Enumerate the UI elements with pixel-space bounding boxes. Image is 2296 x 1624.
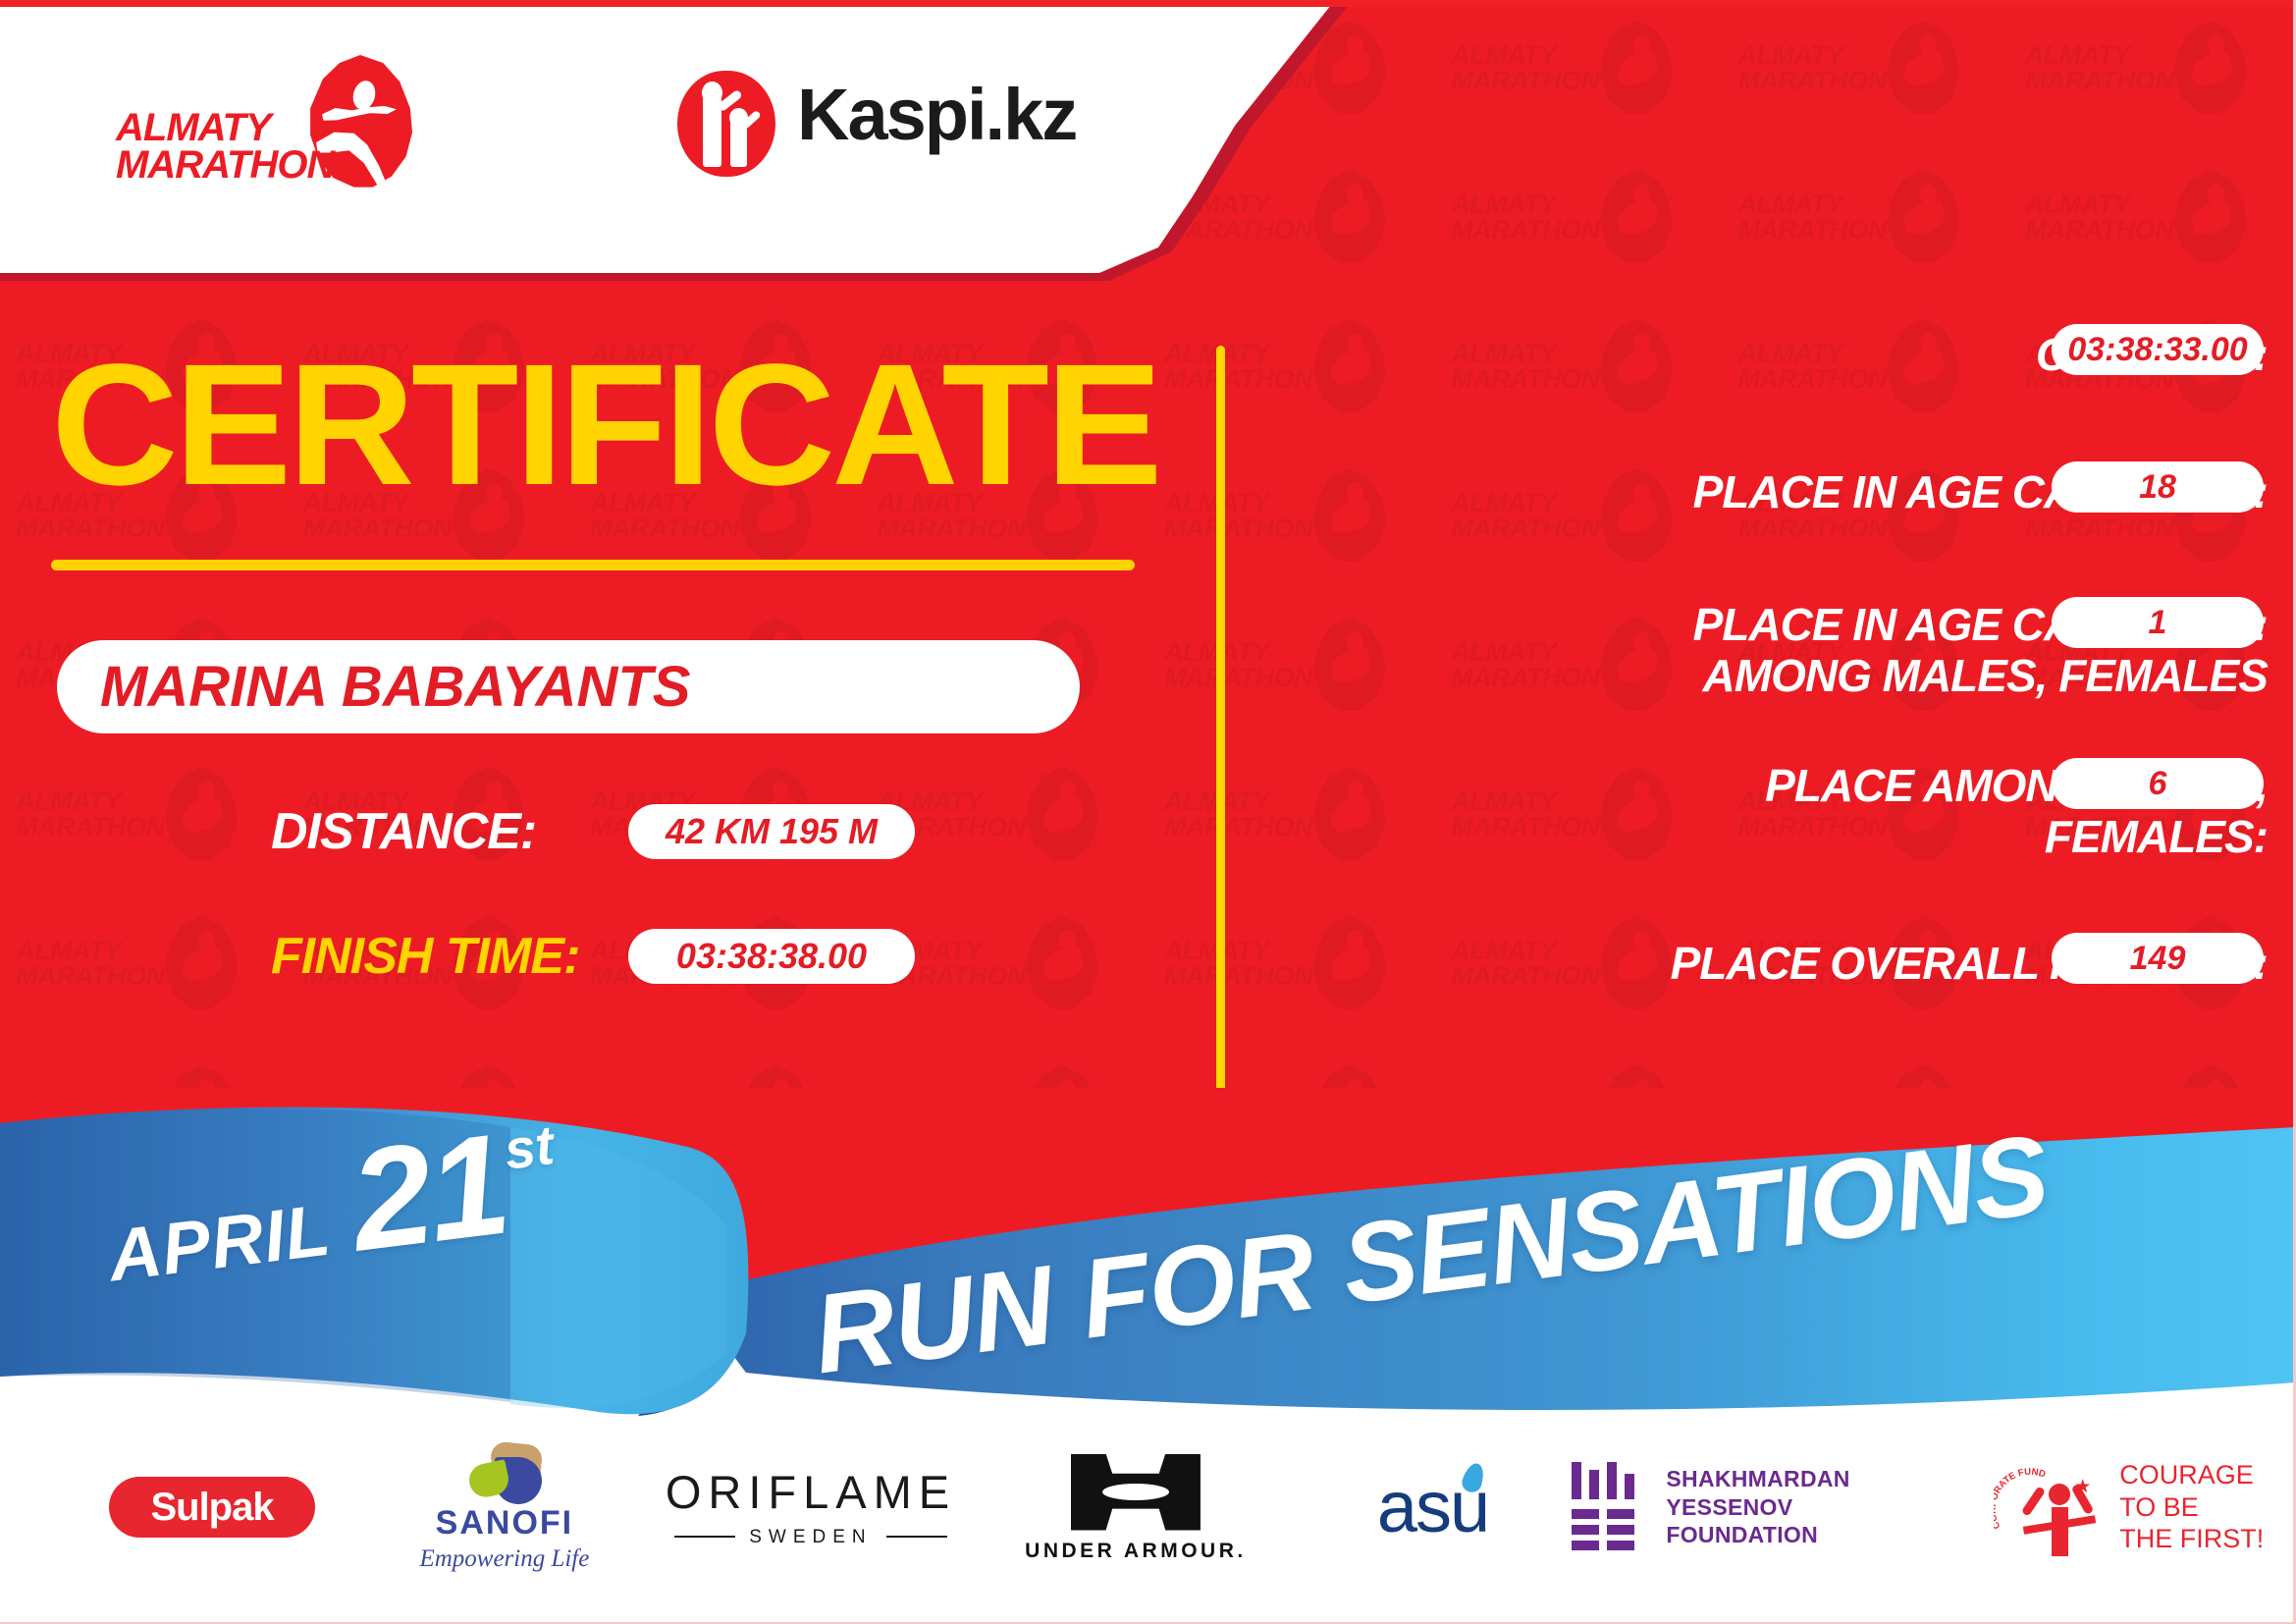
chip-time-value-pill: 03:38:33.00 [2052,324,2264,375]
marathon-line: MARATHON [116,147,332,185]
courage-line-2: TO BE [2119,1491,2264,1523]
foundation-line-1: SHAKHMARDAN YESSENOV [1666,1465,1961,1521]
dash-4 [1607,1525,1634,1535]
place-among-gender-value: 6 [2149,767,2167,800]
sponsor-bar: Sulpak SANOFI Empowering Life ORIFLAME S… [0,1414,2296,1600]
distance-label: DISTANCE: [271,806,536,857]
kaspi-family-icon [677,71,775,177]
watermark-tile: ALMATYMARATHON [1737,166,1993,294]
watermark-droplet-icon [1600,170,1673,264]
runner-arm-shape [322,106,397,126]
kaspi-adult-body [703,86,721,167]
top-red-rule [0,0,2296,7]
place-age-category-value-pill: 18 [2052,461,2264,513]
watermark-droplet-icon [1313,170,1386,264]
header-logos: ALMATY MARATHON Kaspi.kz [0,0,1178,273]
watermark-tile: ALMATYMARATHON [1164,912,1419,1040]
kaspi-logo: Kaspi.kz [677,71,1090,179]
yessenov-foundation-wordmark: SHAKHMARDAN YESSENOV FOUNDATION [1666,1465,1961,1549]
sponsor-sanofi: SANOFI Empowering Life [365,1448,644,1566]
sanofi-logo: SANOFI Empowering Life [419,1443,589,1571]
sponsor-shakhmardan-yessenov-foundation: SHAKHMARDAN YESSENOV FOUNDATION [1572,1448,1961,1566]
courage-line-3: THE FIRST! [2119,1523,2264,1554]
sponsor-asu: asu [1294,1448,1573,1566]
watermark-tile: ALMATYMARATHON [1164,763,1419,891]
watermark-text: ALMATYMARATHON [2025,42,2198,94]
watermark-droplet-icon [1313,916,1386,1010]
dash-6 [1607,1541,1634,1550]
watermark-tile: ALMATYMARATHON [2025,17,2280,144]
finish-time-row: FINISH TIME: 03:38:38.00 [0,925,1158,1003]
oriflame-wordmark: ORIFLAME [666,1469,956,1515]
event-day: 21 [344,1112,513,1273]
label-line-2: AMONG MALES, FEMALES [1522,650,2268,701]
certificate-root: ALMATYMARATHONALMATYMARATHONALMATYMARATH… [0,0,2296,1624]
courage-wordmark: COURAGE TO BE THE FIRST! [2119,1459,2264,1554]
watermark-tile: ALMATYMARATHON [1451,17,1706,144]
watermark-text: ALMATYMARATHON [1451,42,1624,94]
page-title: CERTIFICATE [51,352,1159,500]
watermark-tile: ALMATYMARATHON [1164,315,1419,443]
distance-value: 42 KM 195 M [666,814,878,849]
watermark-text: ALMATYMARATHON [1451,191,1624,244]
watermark-tile: ALMATYMARATHON [1451,166,1706,294]
bar-1 [1572,1462,1581,1499]
title-underline [51,560,1135,570]
vertical-yellow-divider [1216,346,1225,1095]
courage-torso [2052,1507,2068,1556]
watermark-droplet-icon [1313,618,1386,712]
ua-slot-shape [1102,1484,1169,1500]
place-overall-value: 149 [2130,942,2186,975]
courage-runner-figure: ★ [2031,1478,2088,1558]
sponsor-sulpak: Sulpak [59,1448,365,1566]
dash-3 [1572,1525,1599,1535]
almaty-line: ALMATY [116,110,332,147]
oriflame-subline: SWEDEN [666,1528,956,1546]
finish-time-value-pill: 03:38:38.00 [628,929,915,984]
place-overall-value-pill: 149 [2052,933,2264,984]
sponsor-courage-to-be-the-first: CORPORATE FUND ★ COURAGE TO BE THE FIRST… [1962,1448,2296,1566]
under-armour-logo: UNDER ARMOUR. [1025,1454,1247,1561]
watermark-droplet-icon [1313,767,1386,861]
watermark-tile: ALMATYMARATHON [2025,166,2280,294]
watermark-text: ALMATYMARATHON [1737,42,1910,94]
asu-logo: asu [1377,1471,1488,1543]
sanofi-bird-icon [457,1443,552,1500]
watermark-text: ALMATYMARATHON [1164,341,1337,393]
watermark-droplet-icon [1313,319,1386,413]
watermark-text: ALMATYMARATHON [1164,788,1337,840]
sanofi-tagline: Empowering Life [419,1546,589,1571]
courage-fund-icon: CORPORATE FUND ★ [1994,1454,2104,1560]
sponsor-under-armour: UNDER ARMOUR. [978,1448,1294,1566]
place-age-category-value: 18 [2139,470,2176,504]
oriflame-rule-right [886,1536,947,1538]
watermark-droplet-icon [1887,170,1959,264]
watermark-droplet-icon [1600,21,1673,115]
dash-5 [1572,1541,1599,1550]
distance-value-pill: 42 KM 195 M [628,804,915,859]
dash-2 [1607,1509,1634,1519]
sanofi-wordmark: SANOFI [419,1506,589,1540]
participant-name: MARINA BABAYANTS [100,659,690,716]
almaty-marathon-wordmark: ALMATY MARATHON [116,110,332,184]
chip-time-value: 03:38:33.00 [2067,333,2247,366]
place-age-category-gender-value: 1 [2149,606,2167,639]
courage-head [2049,1484,2070,1505]
watermark-droplet-icon [2174,21,2247,115]
almaty-marathon-logo: ALMATY MARATHON [116,55,430,192]
oriflame-logo: ORIFLAME SWEDEN [666,1469,956,1546]
watermark-text: ALMATYMARATHON [1737,191,1910,244]
sponsor-oriflame: ORIFLAME SWEDEN [644,1448,978,1566]
oriflame-country: SWEDEN [749,1528,872,1546]
watermark-text: ALMATYMARATHON [1164,490,1337,542]
kaspi-wordmark: Kaspi.kz [797,79,1076,151]
watermark-droplet-icon [1887,21,1959,115]
place-among-gender-value-pill: 6 [2052,758,2264,809]
event-month: APRIL [105,1193,335,1292]
finish-time-value: 03:38:38.00 [676,939,867,974]
watermark-text: ALMATYMARATHON [1164,938,1337,990]
place-age-category-gender-value-pill: 1 [2052,597,2264,648]
bar-4 [1625,1474,1634,1499]
watermark-tile: ALMATYMARATHON [1164,464,1419,592]
under-armour-icon [1071,1454,1201,1531]
foundation-line-2: FOUNDATION [1666,1521,1961,1549]
distance-row: DISTANCE: 42 KM 195 M [0,800,1158,879]
watermark-droplet-icon [1313,468,1386,563]
watermark-text: ALMATYMARATHON [2025,191,2198,244]
bar-2 [1589,1470,1599,1499]
watermark-text: ALMATYMARATHON [1164,639,1337,691]
courage-line-1: COURAGE [2119,1459,2264,1490]
event-day-suffix: st [502,1117,557,1178]
watermark-tile: ALMATYMARATHON [1164,614,1419,741]
label-line-2: FEMALES: [1522,811,2268,862]
oriflame-rule-left [674,1536,735,1538]
finish-time-label: FINISH TIME: [271,931,579,982]
watermark-tile: ALMATYMARATHON [1737,17,1993,144]
sulpak-wordmark: Sulpak [150,1488,273,1527]
watermark-droplet-icon [2174,170,2247,264]
yessenov-foundation-icon [1572,1462,1640,1552]
dash-1 [1572,1509,1599,1519]
sulpak-logo: Sulpak [109,1477,315,1538]
participant-name-field: MARINA BABAYANTS [57,640,1080,733]
under-armour-wordmark: UNDER ARMOUR. [1025,1541,1247,1561]
bar-3 [1607,1462,1617,1499]
